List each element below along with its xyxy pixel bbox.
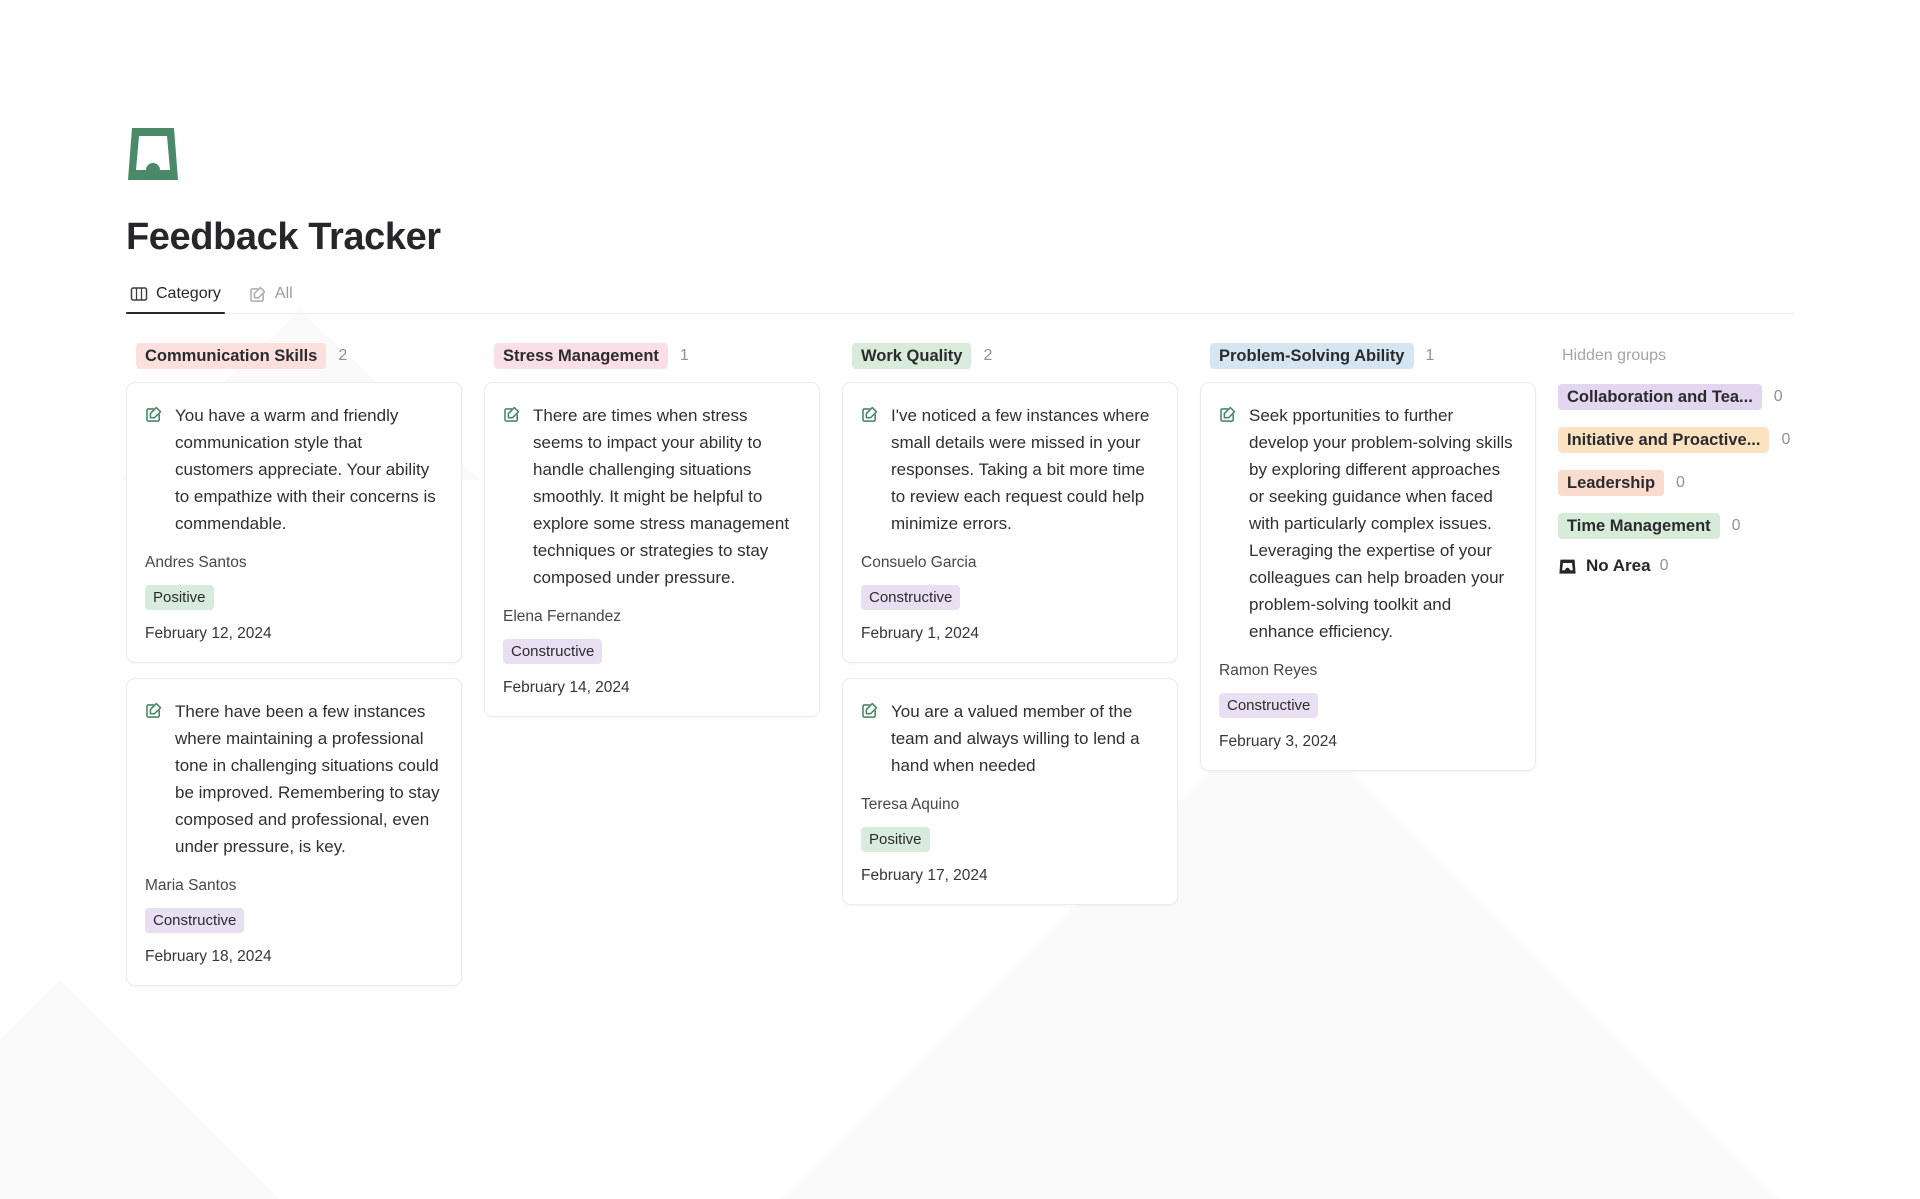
tab-category[interactable]: Category <box>126 281 225 314</box>
hidden-group-chip: Leadership <box>1558 470 1664 496</box>
edit-square-icon <box>145 405 163 423</box>
feedback-card[interactable]: You have a warm and friendly communicati… <box>126 382 462 663</box>
column-count: 1 <box>680 347 689 365</box>
card-sentiment-tag: Constructive <box>503 639 602 664</box>
card-date: February 17, 2024 <box>861 867 1159 885</box>
inbox-tray-icon <box>1558 557 1577 576</box>
hidden-group-chip: Collaboration and Tea... <box>1558 384 1762 410</box>
board-column-problem-solving-ability: Problem-Solving Ability 1 Seek pportunit… <box>1200 344 1536 786</box>
hidden-group-count: 0 <box>1676 474 1685 492</box>
column-count: 1 <box>1426 347 1435 365</box>
hidden-group-item[interactable]: Initiative and Proactive... 0 <box>1558 427 1878 453</box>
column-title-chip: Stress Management <box>494 343 668 369</box>
kanban-board: Communication Skills 2 You have a warm a… <box>0 344 1920 1001</box>
card-author: Ramon Reyes <box>1219 662 1517 680</box>
feedback-card[interactable]: There have been a few instances where ma… <box>126 678 462 986</box>
tab-category-label: Category <box>156 285 221 303</box>
inbox-tray-icon <box>126 126 180 182</box>
page-root: Feedback Tracker Category All <box>0 0 1920 1199</box>
card-author: Consuelo Garcia <box>861 554 1159 572</box>
hidden-group-item[interactable]: Leadership 0 <box>1558 470 1878 496</box>
hidden-group-chip: Time Management <box>1558 513 1720 539</box>
columns-icon <box>130 285 148 303</box>
card-text: I've noticed a few instances where small… <box>891 402 1159 537</box>
card-date: February 12, 2024 <box>145 625 443 643</box>
card-sentiment-tag: Positive <box>861 827 930 852</box>
hidden-group-count: 0 <box>1732 517 1741 535</box>
card-author: Teresa Aquino <box>861 796 1159 814</box>
card-author: Elena Fernandez <box>503 608 801 626</box>
page-title: Feedback Tracker <box>126 216 1920 259</box>
hidden-group-no-area[interactable]: No Area 0 <box>1558 556 1878 576</box>
hidden-group-count: 0 <box>1774 388 1783 406</box>
card-sentiment-tag: Positive <box>145 585 214 610</box>
card-author: Maria Santos <box>145 877 443 895</box>
board-column-work-quality: Work Quality 2 I've noticed a few instan… <box>842 344 1178 920</box>
tab-all-label: All <box>275 285 293 303</box>
feedback-card[interactable]: You are a valued member of the team and … <box>842 678 1178 905</box>
card-sentiment-tag: Constructive <box>861 585 960 610</box>
card-date: February 14, 2024 <box>503 679 801 697</box>
column-count: 2 <box>983 347 992 365</box>
hidden-groups-title: Hidden groups <box>1558 345 1878 367</box>
card-text: Seek pportunities to further develop you… <box>1249 402 1517 645</box>
feedback-card[interactable]: Seek pportunities to further develop you… <box>1200 382 1536 771</box>
hidden-group-item[interactable]: Collaboration and Tea... 0 <box>1558 384 1878 410</box>
column-title-chip: Communication Skills <box>136 343 326 369</box>
edit-square-icon <box>503 405 521 423</box>
card-sentiment-tag: Constructive <box>1219 693 1318 718</box>
edit-square-icon <box>861 701 879 719</box>
edit-square-icon <box>145 701 163 719</box>
card-text: There are times when stress seems to imp… <box>533 402 801 591</box>
edit-square-icon <box>861 405 879 423</box>
hidden-group-chip: Initiative and Proactive... <box>1558 427 1769 453</box>
card-author: Andres Santos <box>145 554 443 572</box>
view-tabs: Category All <box>0 281 1920 314</box>
no-area-count: 0 <box>1660 557 1669 575</box>
card-date: February 18, 2024 <box>145 948 443 966</box>
no-area-label: No Area <box>1586 556 1651 576</box>
feedback-card[interactable]: I've noticed a few instances where small… <box>842 382 1178 663</box>
card-text: You have a warm and friendly communicati… <box>175 402 443 537</box>
edit-square-icon <box>249 285 267 303</box>
card-text: There have been a few instances where ma… <box>175 698 443 860</box>
board-column-stress-management: Stress Management 1 There are times when… <box>484 344 820 732</box>
column-title-chip: Work Quality <box>852 343 971 369</box>
card-date: February 1, 2024 <box>861 625 1159 643</box>
hidden-groups-panel: Hidden groups Collaboration and Tea... 0… <box>1558 344 1878 576</box>
tab-all[interactable]: All <box>245 281 297 314</box>
column-count: 2 <box>338 347 347 365</box>
card-date: February 3, 2024 <box>1219 733 1517 751</box>
column-header[interactable]: Work Quality 2 <box>842 344 1178 368</box>
column-header[interactable]: Communication Skills 2 <box>126 344 462 368</box>
feedback-card[interactable]: There are times when stress seems to imp… <box>484 382 820 717</box>
board-column-communication-skills: Communication Skills 2 You have a warm a… <box>126 344 462 1001</box>
edit-square-icon <box>1219 405 1237 423</box>
hidden-group-count: 0 <box>1781 431 1790 449</box>
column-header[interactable]: Stress Management 1 <box>484 344 820 368</box>
column-title-chip: Problem-Solving Ability <box>1210 343 1414 369</box>
column-header[interactable]: Problem-Solving Ability 1 <box>1200 344 1536 368</box>
hidden-group-item[interactable]: Time Management 0 <box>1558 513 1878 539</box>
card-sentiment-tag: Constructive <box>145 908 244 933</box>
card-text: You are a valued member of the team and … <box>891 698 1159 779</box>
page-header: Feedback Tracker <box>0 0 1920 259</box>
